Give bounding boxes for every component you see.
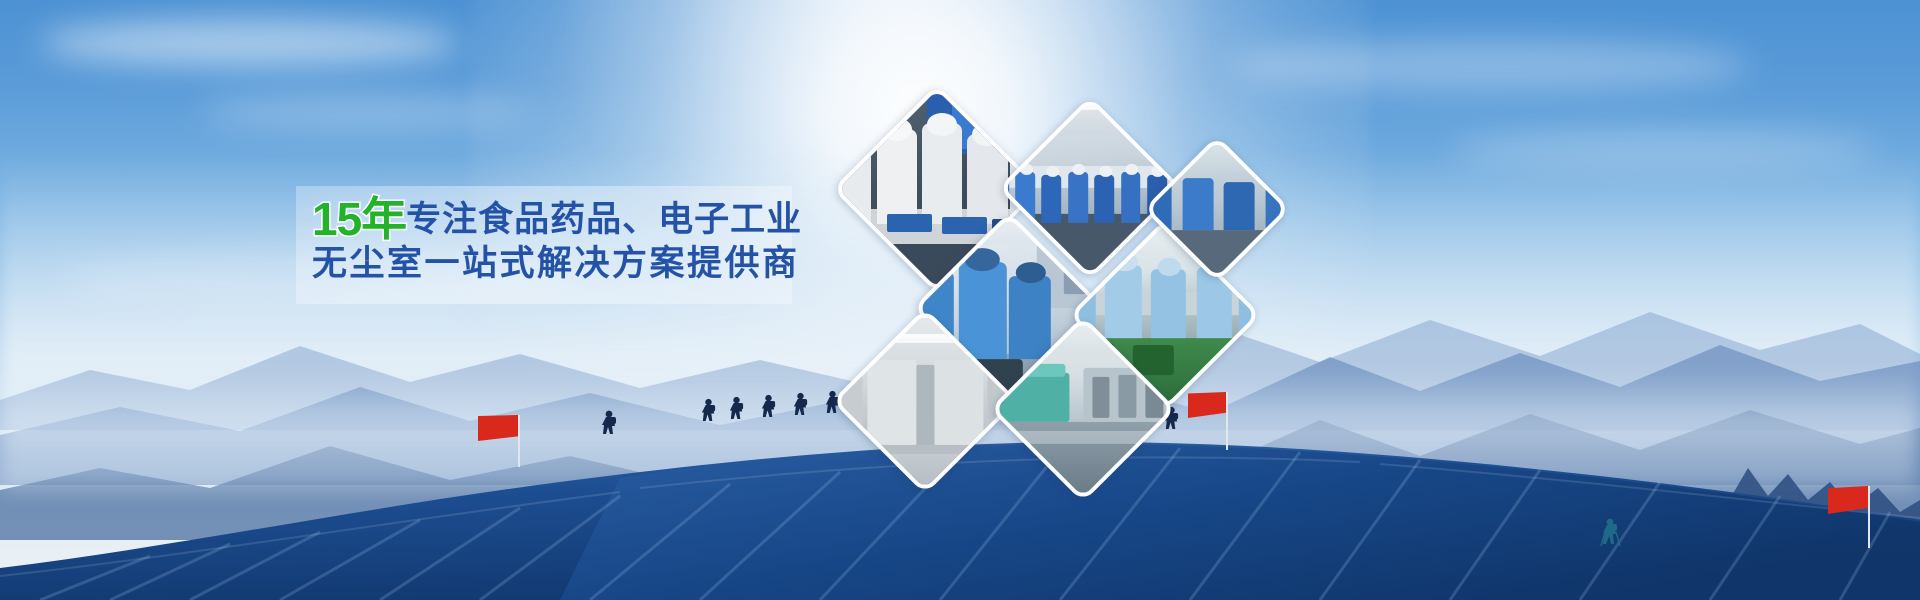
climber-silhouette [600,410,618,440]
flag-cloth [1828,486,1868,514]
climber-silhouette [760,394,777,423]
cloud-wisp [40,20,460,66]
flag-cloth [478,415,518,441]
headline-line-1: 15年专注食品药品、电子工业 [312,196,832,246]
photo-collage [845,95,1275,465]
climber-silhouette [700,398,717,427]
headline-line-2-text: 无尘室一站式解决方案提供商 [312,244,800,283]
headline-line-2: 无尘室一站式解决方案提供商 [312,246,832,296]
red-flag-left [478,415,520,467]
years-badge: 15年 [312,193,406,245]
headline-line-1-text: 专注食品药品、电子工业 [406,200,802,239]
hero-banner: 15年专注食品药品、电子工业 无尘室一站式解决方案提供商 [0,0,1920,600]
cloud-wisp [1230,40,1750,92]
climber-silhouette [1600,518,1622,550]
headline: 15年专注食品药品、电子工业 无尘室一站式解决方案提供商 [312,196,832,296]
climber-silhouette [792,392,809,421]
cloud-wisp [200,95,530,129]
red-flag-right [1828,486,1870,548]
climber-silhouette [728,396,745,425]
